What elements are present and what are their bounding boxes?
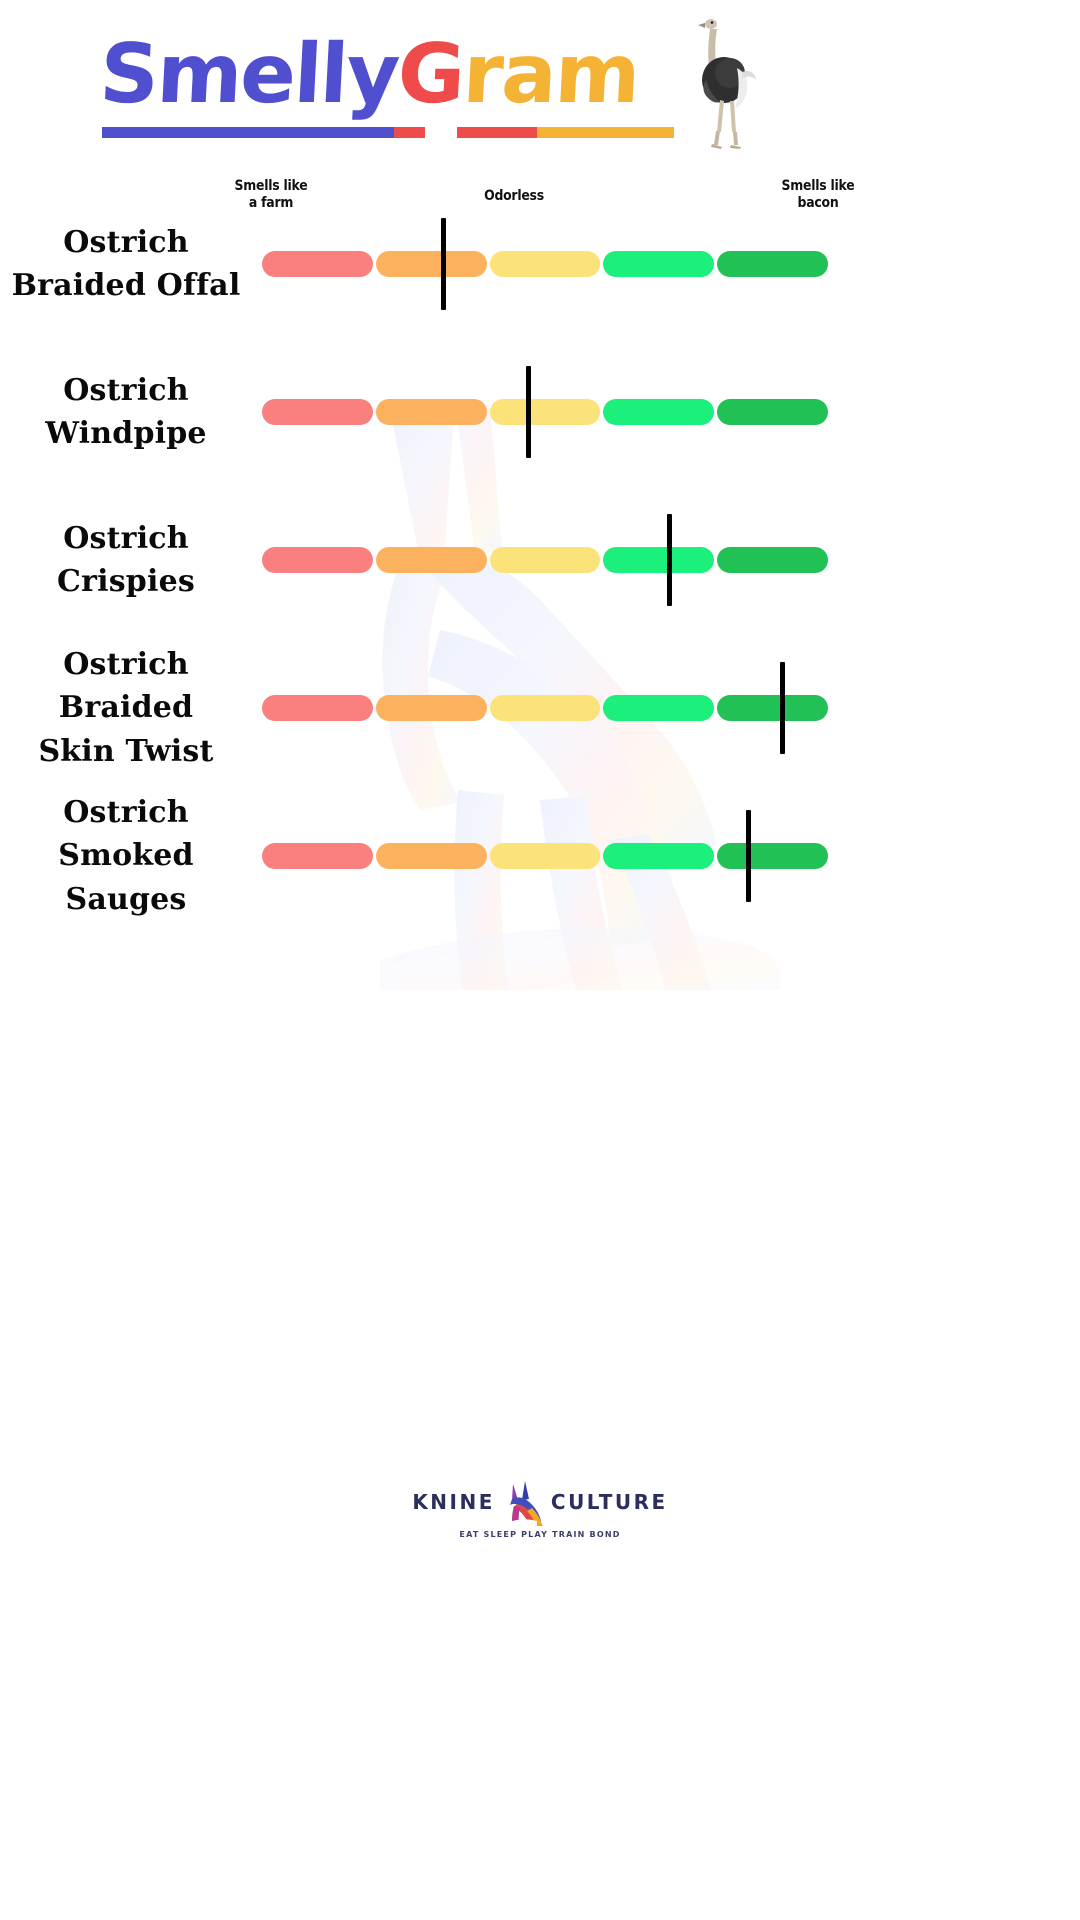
rating-scale-bar — [262, 547, 828, 573]
rating-row-scale — [262, 782, 828, 930]
ostrich-icon — [678, 10, 758, 150]
rating-scale-bar — [262, 843, 828, 869]
rating-row-label: OstrichWindpipe — [0, 338, 252, 486]
rating-row-scale — [262, 338, 828, 486]
scale-segment-2 — [376, 547, 487, 573]
rating-row-scale — [262, 634, 828, 782]
header: SmellyGram — [0, 0, 1080, 160]
rating-row-label-line: Ostrich Braided — [4, 643, 248, 730]
rating-row-label-line: Braided Offal — [12, 264, 241, 308]
rating-marker — [667, 514, 672, 606]
legend-label-left: Smells like a farm — [216, 178, 326, 212]
rating-marker — [441, 218, 446, 310]
rating-marker — [780, 662, 785, 754]
brand-logo-text: SmellyGram — [97, 22, 703, 127]
scale-segment-1 — [262, 251, 373, 277]
rating-row: OstrichWindpipe — [0, 338, 1080, 486]
scale-segment-3 — [490, 695, 601, 721]
scale-segment-4 — [603, 843, 714, 869]
scale-segment-2 — [376, 843, 487, 869]
rating-row-label: OstrichSmokedSauges — [0, 782, 252, 930]
scale-segment-2 — [376, 399, 487, 425]
rating-scale-bar — [262, 251, 828, 277]
scale-segment-3 — [490, 843, 601, 869]
scale-segment-1 — [262, 547, 373, 573]
dog-logo-icon — [501, 1478, 545, 1526]
footer-word-knine: KNINE — [412, 1490, 495, 1514]
scale-segment-3 — [490, 251, 601, 277]
logo-underline-rules — [102, 127, 674, 138]
legend-left-line2: a farm — [216, 195, 326, 212]
scale-segment-5 — [717, 547, 828, 573]
footer: KNINE CULTURE EAT SLEEP PLAY TRAIN BOND — [0, 1478, 1080, 1598]
footer-word-culture: CULTURE — [551, 1490, 668, 1514]
rating-row-label-line: Crispies — [57, 560, 195, 604]
scale-segment-2 — [376, 695, 487, 721]
rating-row-label-line: Ostrich — [45, 369, 206, 413]
scale-segment-4 — [603, 251, 714, 277]
rating-scale-bar — [262, 399, 828, 425]
footer-tagline: EAT SLEEP PLAY TRAIN BOND — [459, 1530, 620, 1539]
scale-segment-1 — [262, 399, 373, 425]
logo-part-ram: ram — [461, 27, 641, 122]
logo-part-smelly: Smelly — [98, 27, 401, 122]
rating-row-label-line: Smoked — [58, 834, 193, 878]
scale-segment-5 — [717, 695, 828, 721]
rating-row-label-line: Ostrich — [58, 791, 193, 835]
logo-rule-red-1 — [394, 127, 425, 138]
scale-segment-4 — [603, 547, 714, 573]
scale-segment-5 — [717, 399, 828, 425]
rating-row-label-line: Sauges — [58, 878, 193, 922]
scale-segment-3 — [490, 399, 601, 425]
legend-label-right: Smells like bacon — [763, 178, 873, 212]
brand-logo: SmellyGram — [100, 22, 700, 142]
legend-right-line1: Smells like — [763, 178, 873, 195]
scale-legend: Smells like a farm Odorless Smells like … — [0, 172, 1080, 222]
rating-row-label-line: Windpipe — [45, 412, 206, 456]
scale-segment-1 — [262, 695, 373, 721]
rating-marker — [526, 366, 531, 458]
scale-segment-5 — [717, 251, 828, 277]
scale-segment-4 — [603, 695, 714, 721]
rating-marker — [746, 810, 751, 902]
logo-part-g: G — [395, 27, 465, 122]
logo-rule-blue — [102, 127, 394, 138]
rating-row-label-line: Skin Twist — [4, 730, 248, 774]
rating-row-label: Ostrich BraidedSkin Twist — [0, 634, 252, 782]
rating-row-scale — [262, 486, 828, 634]
smell-rating-rows: OstrichBraided OffalOstrichWindpipeOstri… — [0, 190, 1080, 930]
legend-label-middle: Odorless — [461, 188, 568, 205]
legend-left-line1: Smells like — [216, 178, 326, 195]
scale-segment-4 — [603, 399, 714, 425]
rating-row: OstrichSmokedSauges — [0, 782, 1080, 930]
rating-row: OstrichCrispies — [0, 486, 1080, 634]
logo-rule-red-2 — [457, 127, 537, 138]
logo-rule-gap — [425, 127, 456, 138]
rating-scale-bar — [262, 695, 828, 721]
rating-row: Ostrich BraidedSkin Twist — [0, 634, 1080, 782]
knine-culture-logo: KNINE CULTURE — [412, 1478, 667, 1526]
scale-segment-3 — [490, 547, 601, 573]
rating-row-label: OstrichCrispies — [0, 486, 252, 634]
rating-row-label-line: Ostrich — [12, 221, 241, 265]
logo-rule-yellow — [537, 127, 674, 138]
rating-row-label-line: Ostrich — [57, 517, 195, 561]
scale-segment-2 — [376, 251, 487, 277]
scale-segment-5 — [717, 843, 828, 869]
legend-right-line2: bacon — [763, 195, 873, 212]
scale-segment-1 — [262, 843, 373, 869]
